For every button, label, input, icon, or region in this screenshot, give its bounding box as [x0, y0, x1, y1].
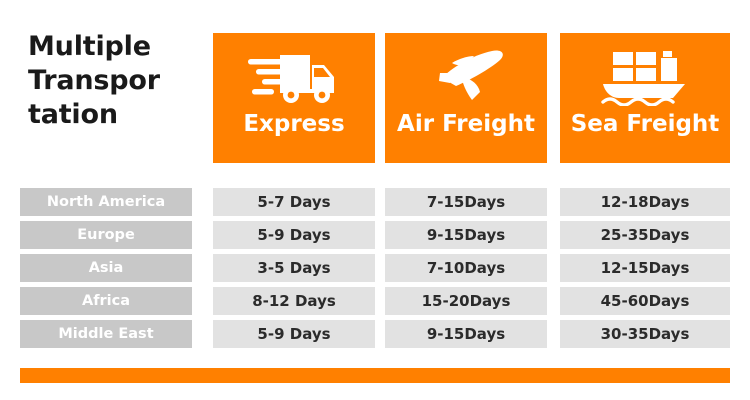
cell-europe-air: 9-15Days: [385, 221, 547, 249]
region-label-europe: Europe: [20, 221, 192, 249]
table-row: Africa 8-12 Days 15-20Days 45-60Days: [0, 287, 750, 315]
page-title-line-2: Transpor: [28, 64, 208, 98]
column-header-air-freight: Air Freight: [385, 33, 547, 163]
cell-middle-east-express: 5-9 Days: [213, 320, 375, 348]
page-title-line-3: tation: [28, 98, 208, 132]
footer-accent-bar: [20, 368, 730, 383]
cell-north-america-air: 7-15Days: [385, 188, 547, 216]
table-row: Middle East 5-9 Days 9-15Days 30-35Days: [0, 320, 750, 348]
cargo-ship-icon: [595, 39, 695, 111]
transportation-table-graphic: Multiple Transpor tation: [0, 0, 750, 400]
column-header-express-label: Express: [243, 113, 344, 136]
page-title-line-1: Multiple: [28, 30, 208, 64]
column-header-sea-freight: Sea Freight: [560, 33, 730, 163]
cell-middle-east-air: 9-15Days: [385, 320, 547, 348]
cell-middle-east-sea: 30-35Days: [560, 320, 730, 348]
page-title: Multiple Transpor tation: [28, 30, 208, 132]
table-row: Europe 5-9 Days 9-15Days 25-35Days: [0, 221, 750, 249]
column-header-express: Express: [213, 33, 375, 163]
delivery-truck-icon: [246, 39, 342, 111]
table-row: North America 5-7 Days 7-15Days 12-18Day…: [0, 188, 750, 216]
airplane-icon: [422, 39, 510, 111]
cell-north-america-sea: 12-18Days: [560, 188, 730, 216]
cell-europe-sea: 25-35Days: [560, 221, 730, 249]
cell-north-america-express: 5-7 Days: [213, 188, 375, 216]
region-label-north-america: North America: [20, 188, 192, 216]
cell-africa-sea: 45-60Days: [560, 287, 730, 315]
cell-asia-sea: 12-15Days: [560, 254, 730, 282]
cell-europe-express: 5-9 Days: [213, 221, 375, 249]
region-label-africa: Africa: [20, 287, 192, 315]
table-row: Asia 3-5 Days 7-10Days 12-15Days: [0, 254, 750, 282]
cell-africa-air: 15-20Days: [385, 287, 547, 315]
region-label-middle-east: Middle East: [20, 320, 192, 348]
cell-asia-express: 3-5 Days: [213, 254, 375, 282]
column-header-sea-freight-label: Sea Freight: [571, 113, 720, 136]
region-label-asia: Asia: [20, 254, 192, 282]
cell-africa-express: 8-12 Days: [213, 287, 375, 315]
cell-asia-air: 7-10Days: [385, 254, 547, 282]
column-header-air-freight-label: Air Freight: [397, 113, 535, 136]
